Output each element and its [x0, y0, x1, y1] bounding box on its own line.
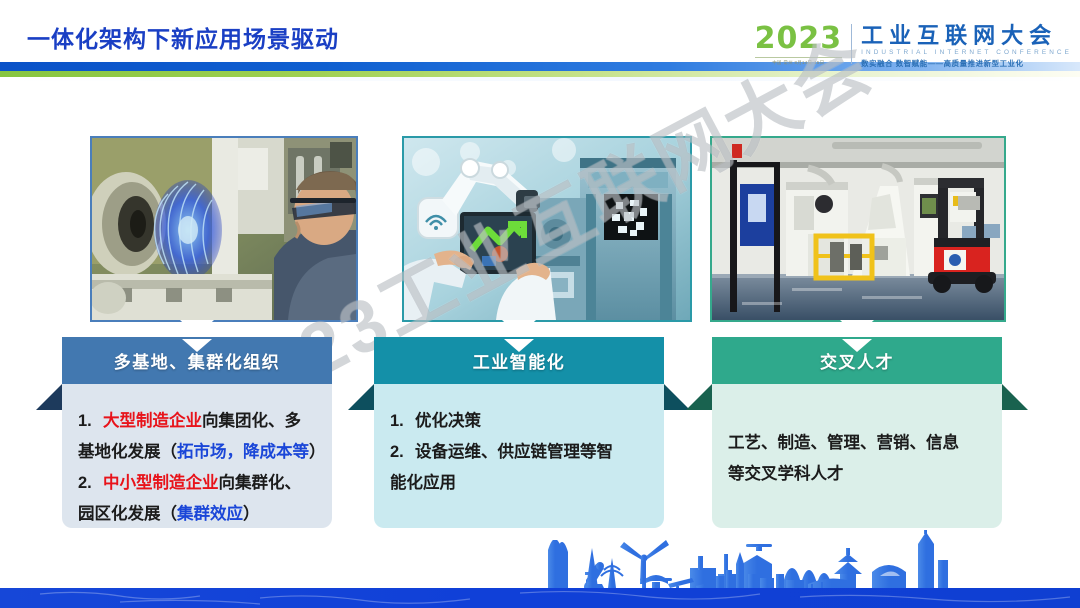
card-1-line-4: 园区化发展（集群效应）: [78, 499, 316, 530]
card-1-header: 多基地、集群化组织: [62, 337, 332, 384]
card-2-line-2: 2.设备运维、供应链管理等智: [390, 437, 648, 468]
page-title: 一体化架构下新应用场景驱动: [27, 20, 339, 54]
card-3-line-2: 等交叉学科人才: [728, 459, 986, 490]
ribbon-notch-icon-1: [182, 337, 212, 350]
card-3-body: 工艺、制造、管理、营销、信息 等交叉学科人才: [712, 384, 1002, 528]
chevron-down-icon-1: [180, 320, 214, 336]
card-2-body: 1.优化决策 2.设备运维、供应链管理等智 能化应用: [374, 384, 664, 528]
photo-smart-factory-agv: [710, 136, 1006, 322]
logo-location-date: 中国·常州 8月14日-15日: [755, 57, 843, 66]
logo-year-block: 2023 中国·常州 8月14日-15日: [755, 24, 852, 66]
logo-name-en: INDUSTRIAL INTERNET CONFERENCE: [861, 49, 1072, 56]
card-3-header: 交叉人才: [712, 337, 1002, 384]
ribbon-fold-left-2: [348, 384, 374, 410]
card-2-line-3: 能化应用: [390, 468, 648, 499]
card-1-line-3: 2.中小型制造企业向集群化、: [78, 468, 316, 499]
card-2-header: 工业智能化: [374, 337, 664, 384]
conference-logo: 2023 中国·常州 8月14日-15日 工业互联网大会 INDUSTRIAL …: [755, 24, 1072, 69]
card-industrial-intelligence: 工业智能化 1.优化决策 2.设备运维、供应链管理等智 能化应用: [374, 337, 664, 528]
ribbon-fold-left-3: [686, 384, 712, 410]
card-2-line-1: 1.优化决策: [390, 406, 648, 437]
footer-skyline: [0, 530, 1080, 608]
card-1-body: 1.大型制造企业向集团化、多 基地化发展（拓市场，降成本等） 2.中小型制造企业…: [62, 384, 332, 528]
ribbon-fold-right-3: [1002, 384, 1028, 410]
ribbon-notch-icon-3: [842, 337, 872, 350]
ribbon-fold-left-1: [36, 384, 62, 410]
card-cross-disciplinary-talent: 交叉人才 工艺、制造、管理、营销、信息 等交叉学科人才: [712, 337, 1002, 528]
ribbon-notch-icon-2: [504, 337, 534, 350]
photo-ar-engineer-hologram: [90, 136, 358, 322]
photo-robot-arm-tablet-ar: [402, 136, 692, 322]
chevron-down-icon-2: [502, 320, 536, 336]
card-1-line-1: 1.大型制造企业向集团化、多: [78, 406, 316, 437]
logo-slogan: 数实融合 数智赋能——高质量推进新型工业化: [861, 58, 1072, 69]
card-3-line-1: 工艺、制造、管理、营销、信息: [728, 428, 986, 459]
slide-canvas: 一体化架构下新应用场景驱动 2023 中国·常州 8月14日-15日 工业互联网…: [0, 0, 1080, 608]
card-multi-base-cluster: 多基地、集群化组织 1.大型制造企业向集团化、多 基地化发展（拓市场，降成本等）…: [62, 337, 332, 528]
chevron-down-icon-3: [840, 320, 874, 336]
logo-name-cn: 工业互联网大会: [861, 24, 1072, 48]
logo-name-block: 工业互联网大会 INDUSTRIAL INTERNET CONFERENCE 数…: [861, 24, 1072, 69]
logo-divider: [851, 24, 852, 64]
header-divider-fade: [0, 77, 1080, 81]
logo-year: 2023: [755, 24, 843, 54]
card-1-line-2: 基地化发展（拓市场，降成本等）: [78, 437, 316, 468]
